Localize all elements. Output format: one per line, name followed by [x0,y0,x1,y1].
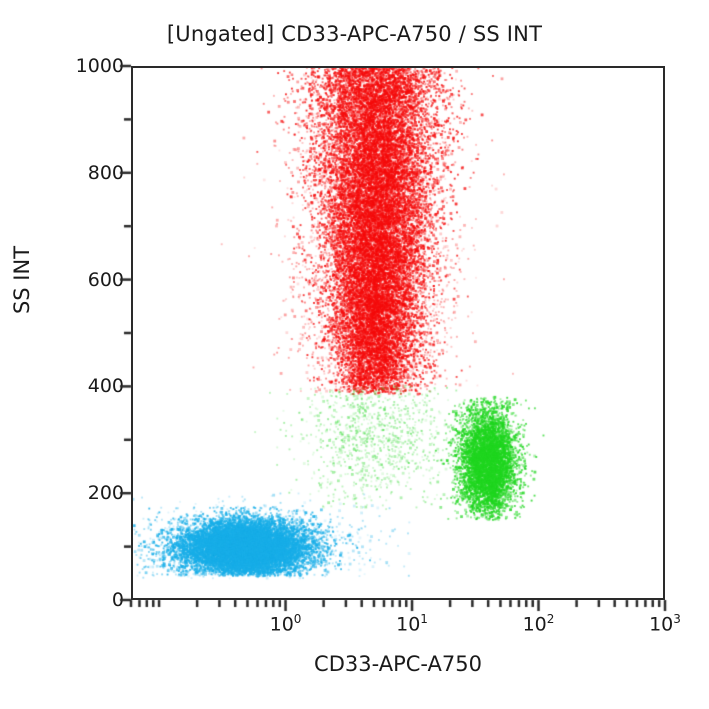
y-tick-label: 1000 [66,55,124,77]
x-tick-label: 102 [523,612,555,635]
y-tick-label: 800 [66,162,124,184]
y-tick-label: 200 [66,482,124,504]
y-tick-label: 0 [66,589,124,611]
x-tick-label: 101 [396,612,428,635]
flow-cytometry-plot: [Ungated] CD33-APC-A750 / SS INT 0200400… [0,0,709,709]
x-axis-tick-labels: 100101102103 [0,612,709,642]
x-tick-label: 100 [270,612,302,635]
scatter-plot-canvas[interactable] [131,66,665,600]
x-tick-label: 103 [649,612,681,635]
y-tick-label: 400 [66,375,124,397]
x-axis-title: CD33-APC-A750 [131,652,665,676]
y-tick-label: 600 [66,269,124,291]
y-axis-title: SS INT [10,220,34,340]
y-axis-tick-labels: 02004006008001000 [60,0,124,709]
